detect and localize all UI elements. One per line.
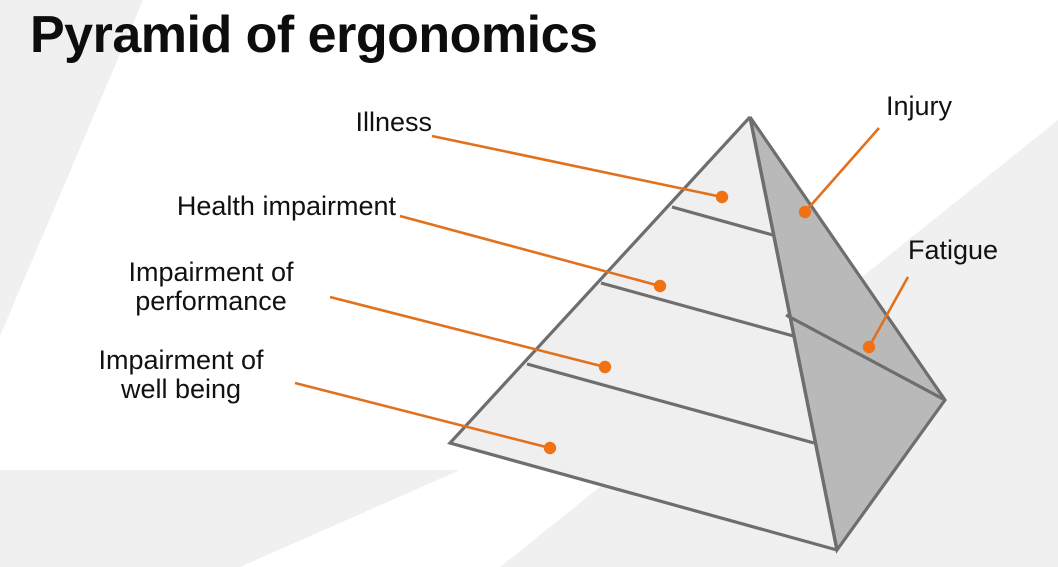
callout-label-impairment-of-performance: Impairment of performance (92, 258, 330, 316)
callout-label-impairment-of-well-being: Impairment of well being (72, 346, 290, 404)
callout-label-health-impairment: Health impairment (118, 192, 396, 221)
page-title: Pyramid of ergonomics (30, 6, 597, 66)
callout-label-fatigue: Fatigue (908, 236, 1038, 265)
callout-label-illness: Illness (322, 108, 432, 137)
labels-layer: Pyramid of ergonomics IllnessHealth impa… (0, 0, 1058, 567)
diagram-canvas: Pyramid of ergonomics IllnessHealth impa… (0, 0, 1058, 567)
callout-label-injury: Injury (886, 92, 1006, 121)
